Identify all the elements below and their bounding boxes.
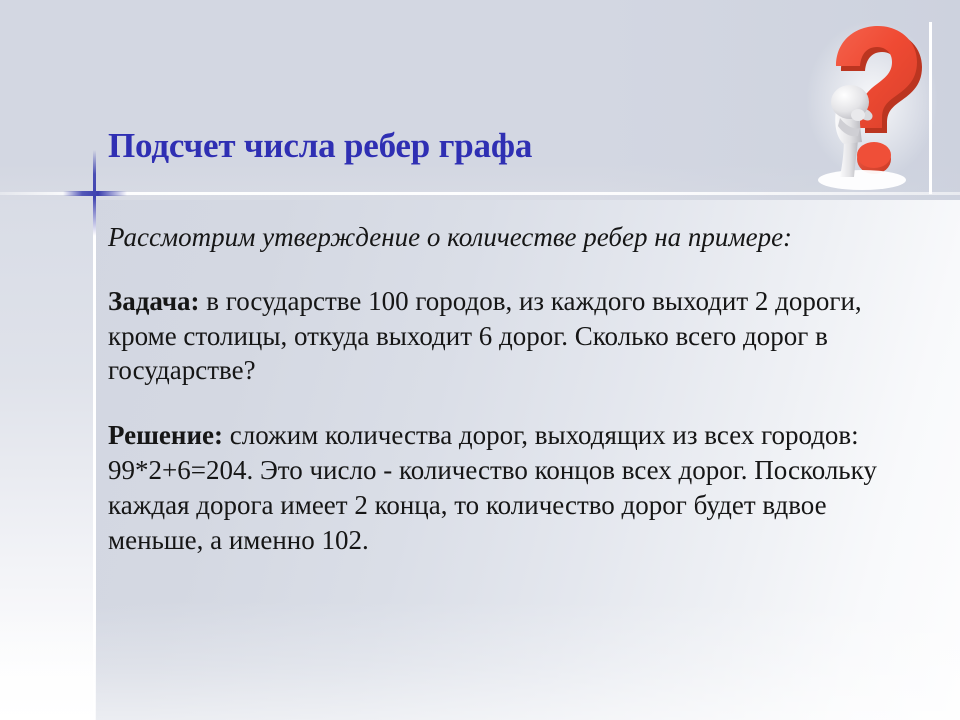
slide: Подсчет числа ребер графа Рассмотрим утв… [0, 0, 960, 720]
accent-vertical-line [93, 150, 96, 236]
intro-paragraph: Рассмотрим утверждение о количестве ребе… [108, 220, 920, 255]
solution-label: Решение: [108, 420, 223, 450]
solution-paragraph: Решение: сложим количества дорог, выходя… [108, 418, 920, 557]
task-paragraph: Задача: в государстве 100 городов, из ка… [108, 284, 920, 388]
background-bottom-fade [0, 600, 960, 720]
solution-text: сложим количества дорог, выходящих из вс… [108, 420, 877, 554]
page-title: Подсчет числа ребер графа [108, 128, 808, 165]
panel-edge-line [93, 200, 96, 720]
slide-body: Рассмотрим утверждение о количестве ребе… [108, 220, 920, 580]
task-text: в государстве 100 городов, из каждого вы… [108, 286, 862, 386]
task-label: Задача: [108, 286, 200, 316]
question-mark-3d-icon [800, 14, 940, 194]
